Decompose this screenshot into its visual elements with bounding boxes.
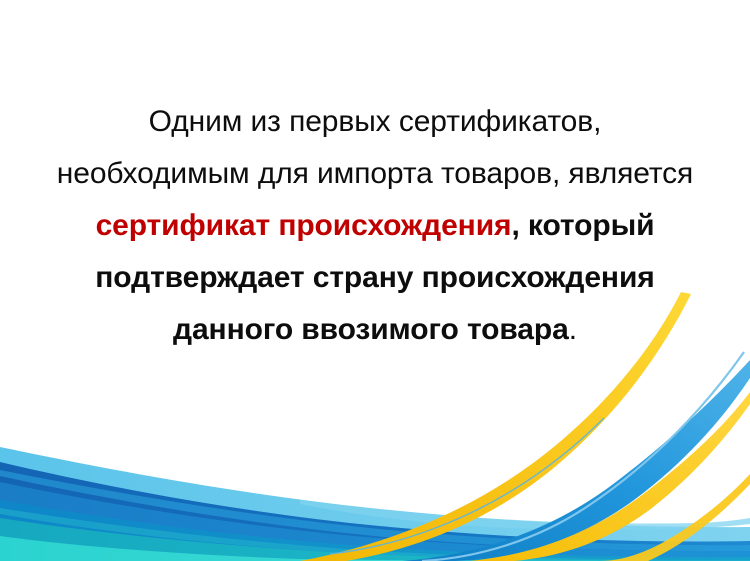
wave-layer-cyan	[0, 536, 750, 561]
blue-ribbon-group	[330, 352, 750, 561]
yellow-ribbon-inner	[470, 392, 750, 561]
text-line-3-tail: , который	[511, 209, 654, 242]
blue-ribbon-hairline	[330, 418, 604, 554]
accent-phrase-certificate-of-origin: сертификат происхождения	[96, 209, 512, 242]
slide-text-block: Одним из первых сертификатов, необходимы…	[0, 96, 750, 356]
wave-layer-sky	[0, 447, 750, 561]
blue-wave-group	[0, 447, 750, 561]
wave-highlight-streak-1	[0, 470, 750, 551]
wave-highlight-streak-2	[0, 508, 750, 561]
text-line-4: подтверждает страну происхождения	[0, 252, 750, 304]
text-line-3: сертификат происхождения, который	[0, 200, 750, 252]
text-line-5: данного ввозимого товара.	[0, 304, 750, 356]
blue-ribbon-thread	[422, 352, 744, 561]
text-line-5-main: данного ввозимого товара	[173, 313, 569, 346]
blue-ribbon-arc	[402, 360, 750, 561]
text-line-2: необходимым для импорта товаров, являетс…	[0, 148, 750, 200]
wave-layer-teal	[0, 518, 750, 561]
wave-layer-deep-blue	[0, 462, 750, 561]
yellow-ribbon-sliver	[600, 474, 750, 561]
wave-layer-azure	[0, 500, 750, 561]
wave-wisp-light	[300, 500, 750, 530]
text-line-5-period: .	[569, 313, 577, 346]
wave-layer-mid-blue	[0, 482, 750, 561]
presentation-slide: Одним из первых сертификатов, необходимы…	[0, 0, 750, 561]
text-line-1: Одним из первых сертификатов,	[0, 96, 750, 148]
